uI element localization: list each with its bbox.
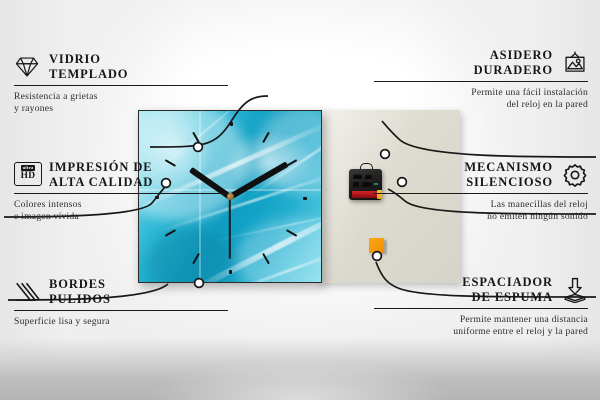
picture-frame-hanger-icon: [562, 50, 588, 76]
clock-tick: [165, 229, 176, 237]
feature-header: ultra HD IMPRESIÓN DE ALTA CALIDAD: [14, 160, 244, 189]
feature-title: VIDRIO TEMPLADO: [49, 52, 128, 81]
feature-header: BORDES PULIDOS: [14, 277, 244, 306]
feature-description: Las manecillas del reloj no emiten ningú…: [358, 199, 588, 222]
clock-tick: [262, 252, 270, 263]
clock-tick: [192, 252, 200, 263]
feature-divider: [14, 85, 228, 86]
clock-tick: [230, 122, 233, 126]
feature-description: Permite mantener una distancia uniforme …: [358, 314, 588, 337]
feature-divider: [374, 81, 588, 82]
ultra-hd-icon-main-label: HD: [21, 172, 36, 181]
polished-edges-icon: [14, 279, 40, 305]
foam-spacer-arrow-icon: [562, 277, 588, 303]
feature-description: Colores intensos e imagen vívida: [14, 199, 244, 222]
clock-tick: [262, 131, 270, 142]
feature-title: MECANISMO SILENCIOSO: [464, 160, 553, 189]
feature-header: ASIDERO DURADERO: [358, 48, 588, 77]
feature-vidrio-templado[interactable]: VIDRIO TEMPLADO Resistencia a grietas y …: [14, 52, 244, 114]
feature-impresion-alta-calidad[interactable]: ultra HD IMPRESIÓN DE ALTA CALIDAD Color…: [14, 160, 244, 222]
feature-header: VIDRIO TEMPLADO: [14, 52, 244, 81]
feature-header: ESPACIADOR DE ESPUMA: [358, 275, 588, 304]
feature-divider: [14, 310, 228, 311]
gear-icon: [562, 162, 588, 188]
clock-tick: [192, 131, 200, 142]
feature-description: Superficie lisa y segura: [14, 316, 244, 328]
feature-title: ASIDERO DURADERO: [474, 48, 553, 77]
clock-tick: [229, 270, 232, 274]
infographic-stage: VIDRIO TEMPLADO Resistencia a grietas y …: [0, 0, 600, 400]
ultra-hd-icon: ultra HD: [14, 162, 40, 188]
diamond-icon: [14, 54, 40, 80]
feature-title: ESPACIADOR DE ESPUMA: [462, 275, 553, 304]
feature-description: Resistencia a grietas y rayones: [14, 91, 244, 114]
feature-header: MECANISMO SILENCIOSO: [358, 160, 588, 189]
feature-divider: [374, 308, 588, 309]
clock-tick: [286, 229, 297, 237]
feature-asidero-duradero[interactable]: ASIDERO DURADERO Permite una fácil insta…: [358, 48, 588, 110]
feature-espaciador-de-espuma[interactable]: ESPACIADOR DE ESPUMA Permite mantener un…: [358, 275, 588, 337]
feature-mecanismo-silencioso[interactable]: MECANISMO SILENCIOSO Las manecillas del …: [358, 160, 588, 222]
feature-divider: [14, 193, 228, 194]
clock-tick: [303, 197, 307, 200]
foam-spacer: [369, 238, 384, 253]
feature-divider: [374, 193, 588, 194]
feature-title: BORDES PULIDOS: [49, 277, 111, 306]
feature-description: Permite una fácil instalación del reloj …: [358, 87, 588, 110]
feature-bordes-pulidos[interactable]: BORDES PULIDOS Superficie lisa y segura: [14, 277, 244, 328]
feature-title: IMPRESIÓN DE ALTA CALIDAD: [49, 160, 153, 189]
